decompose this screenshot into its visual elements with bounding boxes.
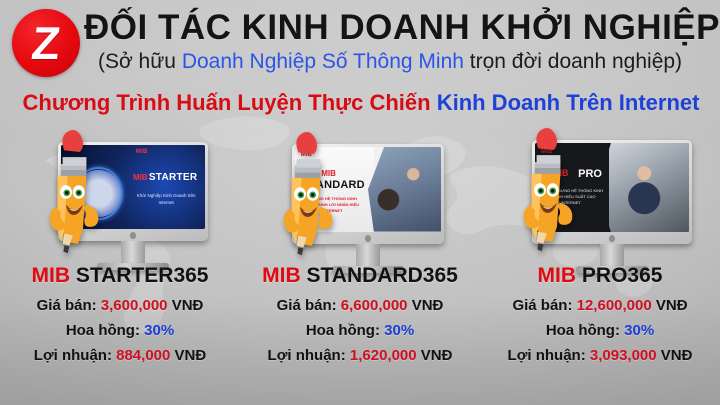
commission-row: Hoa hồng: 30%	[480, 322, 720, 339]
price-currency: VNĐ	[172, 297, 204, 314]
product-mib-tag: MIB	[32, 264, 71, 287]
profit-row: Lợi nhuận: 1,620,000 VNĐ	[240, 347, 480, 364]
tagline-blue: Kinh Doanh Trên Internet	[437, 90, 700, 115]
monitor-neck	[121, 241, 145, 263]
price-block: MIB PRO365 Giá bán: 12,600,000 VNĐ Hoa h…	[480, 264, 720, 372]
pencil-mascot	[506, 126, 574, 254]
subtitle-prefix: (Sở hữu	[98, 50, 182, 73]
monitor-neck	[600, 244, 624, 266]
product-card-starter[interactable]: MIB MIB STARTER Khởi Nghiệp Kinh Doanh t…	[0, 126, 240, 405]
price-block: MIB STANDARD365 Giá bán: 6,600,000 VNĐ H…	[240, 264, 480, 372]
brand-dot-icon	[609, 235, 615, 242]
slide-title: PRO	[578, 168, 602, 180]
subtitle: (Sở hữu Doanh Nghiệp Số Thông Minh trọn …	[70, 50, 710, 74]
price-label: Giá bán:	[512, 297, 572, 314]
page-title: ĐỐI TÁC KINH DOANH KHỞI NGHIỆP	[84, 8, 710, 48]
product-mib-tag: MIB	[262, 264, 301, 287]
banner-header: Z ĐỐI TÁC KINH DOANH KHỞI NGHIỆP (Sở hữu…	[0, 0, 720, 122]
profit-row: Lợi nhuận: 884,000 VNĐ	[0, 347, 240, 364]
brand-dot-icon	[130, 232, 136, 239]
profit-label: Lợi nhuận:	[34, 347, 112, 364]
promo-banner: Z ĐỐI TÁC KINH DOANH KHỞI NGHIỆP (Sở hữu…	[0, 0, 720, 405]
product-name-text: STARTER365	[76, 264, 209, 287]
tagline-red: Chương Trình Huấn Luyện Thực Chiến	[23, 90, 437, 115]
price-value: 12,600,000	[577, 297, 652, 314]
slide-subtitle: Khởi Nghiệp Kinh Doanh trên Internet	[133, 193, 199, 207]
product-columns: MIB MIB STARTER Khởi Nghiệp Kinh Doanh t…	[0, 126, 720, 405]
profit-label: Lợi nhuận:	[508, 347, 586, 364]
commission-value: 30%	[144, 322, 174, 339]
product-visual: MIB MIB PRO XÂY DỰNG HỆ THỐNG KINH DOANH…	[480, 126, 720, 260]
slide-photo	[609, 143, 689, 232]
product-card-pro[interactable]: MIB MIB PRO XÂY DỰNG HỆ THỐNG KINH DOANH…	[480, 126, 720, 405]
slide-mib: MIB	[133, 173, 148, 182]
tagline: Chương Trình Huấn Luyện Thực Chiến Kinh …	[6, 90, 716, 116]
product-card-standard[interactable]: MIB MIB STANDARD XÂY DỰNG HỆ THỐNG KINH …	[240, 126, 480, 405]
product-name-text: PRO365	[582, 264, 663, 287]
slide-title: STARTER	[149, 172, 198, 183]
commission-label: Hoa hồng:	[306, 322, 380, 339]
commission-row: Hoa hồng: 30%	[240, 322, 480, 339]
price-row: Giá bán: 12,600,000 VNĐ	[480, 297, 720, 314]
price-block: MIB STARTER365 Giá bán: 3,600,000 VNĐ Ho…	[0, 264, 240, 372]
price-currency: VNĐ	[412, 297, 444, 314]
profit-row: Lợi nhuận: 3,093,000 VNĐ	[480, 347, 720, 364]
product-mib-tag: MIB	[538, 264, 577, 287]
profit-value: 884,000	[116, 347, 170, 364]
product-visual: MIB MIB STARTER Khởi Nghiệp Kinh Doanh t…	[0, 126, 240, 260]
pencil-mascot	[32, 128, 100, 256]
profit-currency: VNĐ	[421, 347, 453, 364]
price-label: Giá bán:	[37, 297, 97, 314]
brand-dot-icon	[365, 235, 371, 242]
commission-label: Hoa hồng:	[546, 322, 620, 339]
price-value: 6,600,000	[341, 297, 408, 314]
product-visual: MIB MIB STANDARD XÂY DỰNG HỆ THỐNG KINH …	[240, 126, 480, 260]
subtitle-suffix: trọn đời doanh nghiệp)	[464, 50, 682, 73]
product-name: MIB STANDARD365	[240, 264, 480, 288]
price-value: 3,600,000	[101, 297, 168, 314]
profit-value: 3,093,000	[590, 347, 657, 364]
profit-currency: VNĐ	[175, 347, 207, 364]
price-label: Giá bán:	[277, 297, 337, 314]
product-name: MIB PRO365	[480, 264, 720, 288]
monitor-neck	[356, 244, 380, 266]
commission-value: 30%	[624, 322, 654, 339]
price-row: Giá bán: 3,600,000 VNĐ	[0, 297, 240, 314]
commission-value: 30%	[384, 322, 414, 339]
product-name-text: STANDARD365	[307, 264, 458, 287]
profit-value: 1,620,000	[350, 347, 417, 364]
slide-photo	[368, 147, 441, 232]
price-currency: VNĐ	[656, 297, 688, 314]
price-row: Giá bán: 6,600,000 VNĐ	[240, 297, 480, 314]
pencil-mascot	[266, 130, 334, 258]
commission-label: Hoa hồng:	[66, 322, 140, 339]
slide-brand: MIB	[136, 149, 148, 155]
subtitle-highlight: Doanh Nghiệp Số Thông Minh	[182, 50, 464, 73]
commission-row: Hoa hồng: 30%	[0, 322, 240, 339]
product-name: MIB STARTER365	[0, 264, 240, 288]
profit-label: Lợi nhuận:	[268, 347, 346, 364]
profit-currency: VNĐ	[661, 347, 693, 364]
